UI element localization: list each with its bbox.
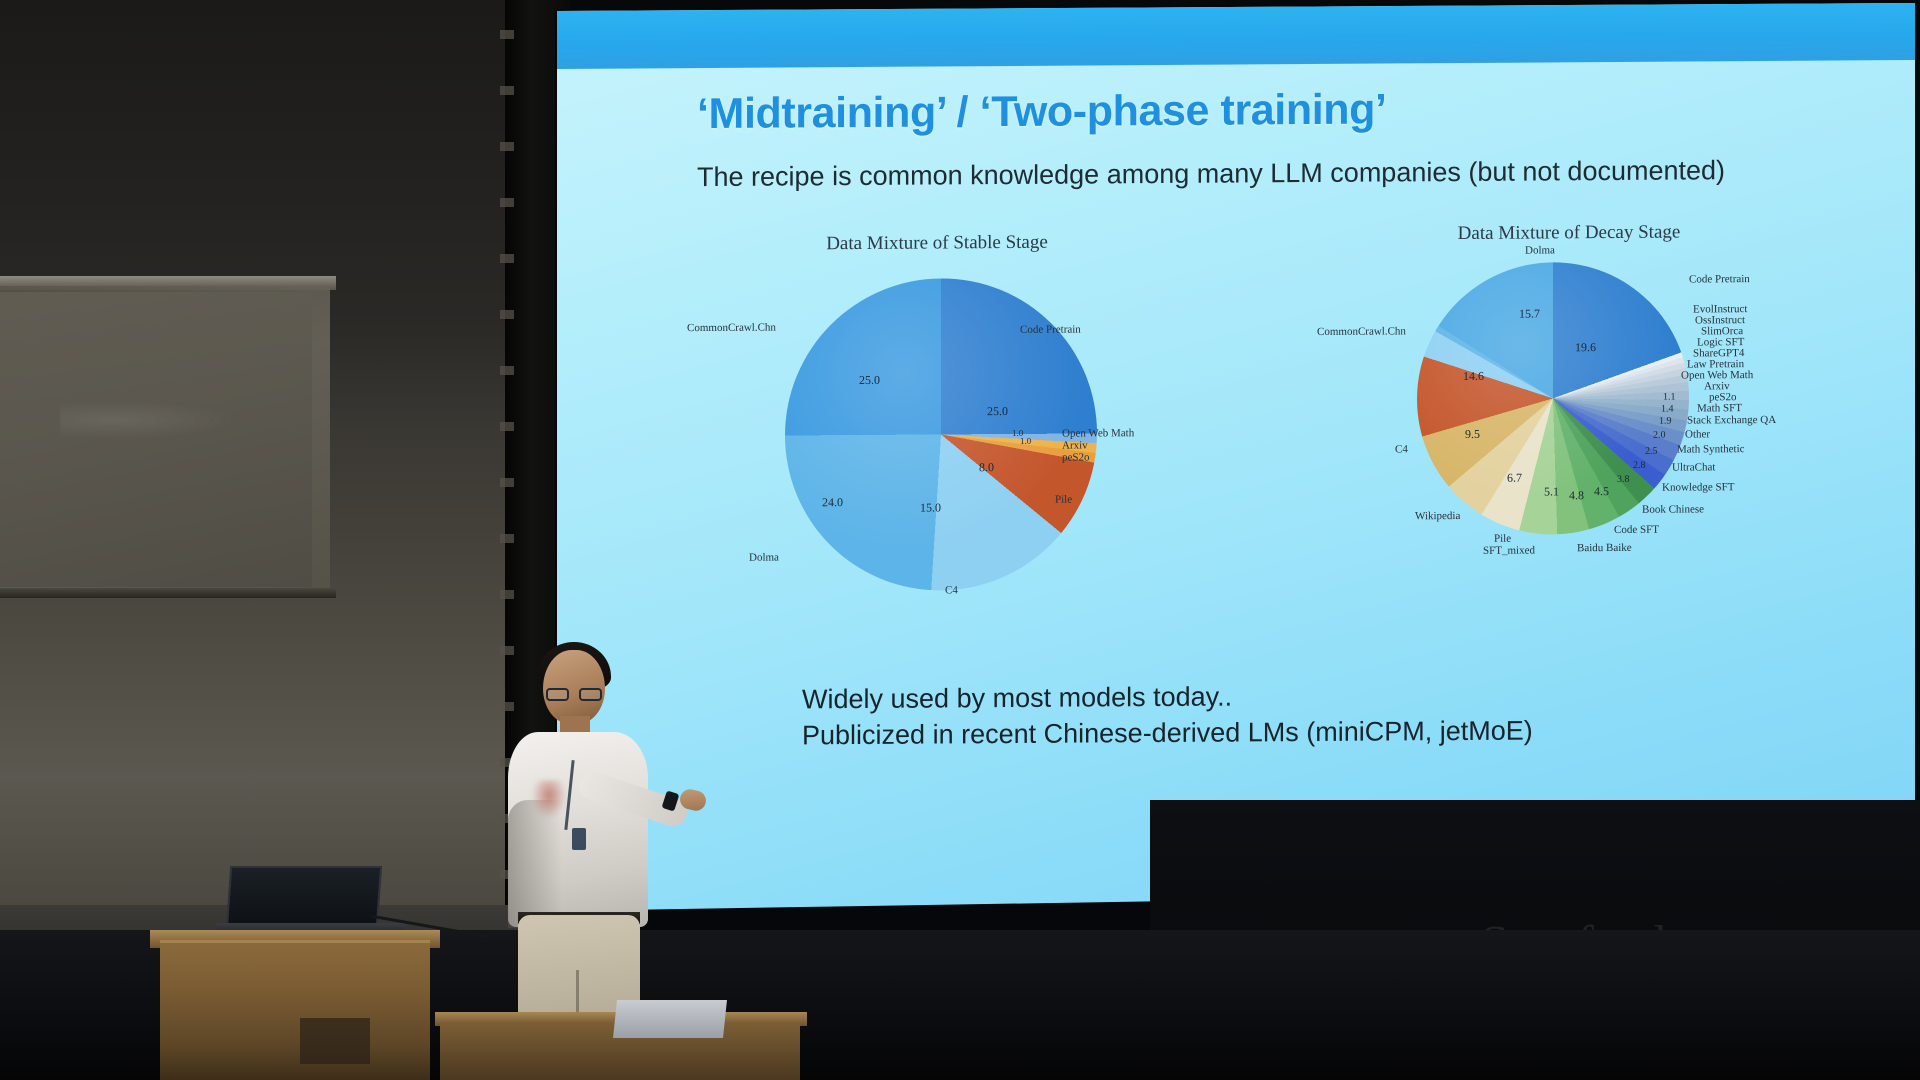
pie-label-dolma: Dolma bbox=[749, 552, 779, 565]
pie-decay-label-commoncrawl-chn: CommonCrawl.Chn bbox=[1317, 325, 1406, 338]
pie-label-commoncrawl-chn: CommonCrawl.Chn bbox=[687, 322, 776, 335]
pie-decay-value-mathsynthetic: 1.9 bbox=[1659, 416, 1672, 427]
pie-decay-label-pile: Pile bbox=[1494, 533, 1511, 545]
pie-decay-label-wikipedia: Wikipedia bbox=[1415, 510, 1460, 523]
pie-decay-label-code-sft: Code SFT bbox=[1614, 524, 1659, 537]
glasses-icon bbox=[546, 688, 604, 701]
chart-decay-stage: Data Mixture of Decay Stage 19.6 15.7 14… bbox=[1257, 220, 1897, 616]
presenter-head bbox=[543, 650, 605, 724]
pie-decay-value-stackexchange: 1.4 bbox=[1661, 404, 1674, 415]
pie-decay-value-knowledgesft: 2.5 bbox=[1645, 446, 1658, 457]
pie-decay-label-evolinstruct: EvolInstruct bbox=[1693, 303, 1747, 316]
pie-decay-value-pile: 5.1 bbox=[1544, 484, 1559, 499]
pie-value-c4: 15.0 bbox=[920, 500, 941, 515]
pie-decay-value-sftmixed: 4.8 bbox=[1569, 488, 1584, 503]
pie-decay-value-c4: 9.5 bbox=[1465, 427, 1480, 442]
podium bbox=[160, 940, 430, 1080]
pie-decay-value-commoncrawl: 14.6 bbox=[1463, 369, 1484, 384]
pie-decay-label-other: Other bbox=[1685, 428, 1710, 440]
chalkboard-frame-bottom bbox=[0, 588, 336, 598]
presenter-shirt-shadow bbox=[508, 800, 562, 928]
pie-decay-label-ossinstruct: OssInstruct bbox=[1695, 314, 1745, 327]
pie-decay-label-logic-sft: Logic SFT bbox=[1697, 336, 1744, 349]
pie-value-dolma: 24.0 bbox=[822, 495, 843, 510]
pie-decay-label-sharegpt4: ShareGPT4 bbox=[1693, 347, 1744, 360]
pie-label-open-web-math: Open Web Math bbox=[1062, 427, 1134, 440]
pie-decay-label-knowledge-sft: Knowledge SFT bbox=[1662, 481, 1734, 494]
pie-label-pile: Pile bbox=[1055, 494, 1072, 506]
pie-decay-label-sft-mixed: SFT_mixed bbox=[1483, 545, 1535, 558]
pie-decay-label-slimorca: SlimOrca bbox=[1701, 325, 1743, 338]
pie-value-arxiv: 1.0 bbox=[1020, 436, 1031, 446]
pie-decay-label-book-chinese: Book Chinese bbox=[1642, 503, 1704, 516]
pie-decay-label-baidu-baike: Baidu Baike bbox=[1577, 542, 1632, 555]
pie-label-code-pretrain: Code Pretrain bbox=[1020, 324, 1081, 337]
pie-decay-label-open-web-math: Open Web Math bbox=[1681, 369, 1753, 382]
slide-footer: Widely used by most models today.. Publi… bbox=[802, 677, 1533, 755]
pie-value-code-pretrain: 25.0 bbox=[987, 404, 1008, 419]
pie-decay-label-arxiv: Arxiv bbox=[1704, 380, 1730, 392]
pie-label-arxiv: Arxiv bbox=[1062, 439, 1088, 451]
pie-decay-value-dolma: 15.7 bbox=[1519, 306, 1540, 321]
podium-laptop-lid bbox=[226, 866, 382, 928]
front-desk-laptop bbox=[613, 1000, 727, 1038]
chalk-writing bbox=[60, 400, 240, 440]
pie-decay-label-math-synthetic: Math Synthetic bbox=[1677, 443, 1745, 456]
lecture-hall-scene: ‘Midtraining’ / ‘Two-phase training’ The… bbox=[0, 0, 1920, 1080]
pie-decay-label-c4: C4 bbox=[1395, 443, 1408, 455]
pie-label-c4: C4 bbox=[945, 584, 958, 596]
pie-decay-value-wikipedia: 6.7 bbox=[1507, 471, 1522, 486]
slide-footer-line-2: Publicized in recent Chinese-derived LMs… bbox=[802, 713, 1533, 754]
pie-decay-label-code-pretrain: Code Pretrain bbox=[1689, 273, 1750, 286]
pie-decay-value-ultrachat: 2.0 bbox=[1653, 430, 1666, 441]
pie-decay-value-bookchinese: 2.8 bbox=[1633, 460, 1646, 471]
pie-value-commoncrawl: 25.0 bbox=[859, 373, 880, 388]
presenter-badge bbox=[572, 828, 586, 850]
presentation-slide: ‘Midtraining’ / ‘Two-phase training’ The… bbox=[557, 3, 1915, 911]
slide-title: ‘Midtraining’ / ‘Two-phase training’ bbox=[697, 85, 1387, 139]
pie-decay-label-pes2o: peS2o bbox=[1709, 391, 1737, 403]
pie-decay-label-math-sft: Math SFT bbox=[1697, 402, 1742, 415]
pie-decay-value-pes2o: 1.1 bbox=[1663, 392, 1676, 403]
pie-decay-label-law-pretrain: Law Pretrain bbox=[1687, 358, 1744, 371]
pie-label-pes2o: peS2o bbox=[1062, 451, 1090, 463]
slide-subtitle: The recipe is common knowledge among man… bbox=[697, 155, 1725, 193]
pie-decay-label-ultrachat: UltraChat bbox=[1672, 461, 1715, 474]
presenter-shirt-stain bbox=[532, 780, 566, 818]
pie-value-pile: 8.0 bbox=[979, 460, 994, 475]
slide-footer-line-1: Widely used by most models today.. bbox=[802, 677, 1533, 718]
pie-decay-label-dolma: Dolma bbox=[1525, 244, 1555, 257]
pie-decay-value-codesft: 3.8 bbox=[1617, 474, 1630, 485]
pie-decay-value-baidu: 4.5 bbox=[1594, 484, 1609, 499]
pie-decay-label-stack-exchange-qa: Stack Exchange QA bbox=[1687, 414, 1776, 427]
chart-stable-stage: Data Mixture of Stable Stage 25.0 1.0 1.… bbox=[667, 231, 1207, 615]
chart-title-decay: Data Mixture of Decay Stage bbox=[1458, 222, 1681, 245]
chart-title-stable: Data Mixture of Stable Stage bbox=[826, 232, 1048, 255]
podium-panel bbox=[300, 1018, 370, 1064]
pie-decay-value-code-pretrain: 19.6 bbox=[1575, 340, 1596, 355]
